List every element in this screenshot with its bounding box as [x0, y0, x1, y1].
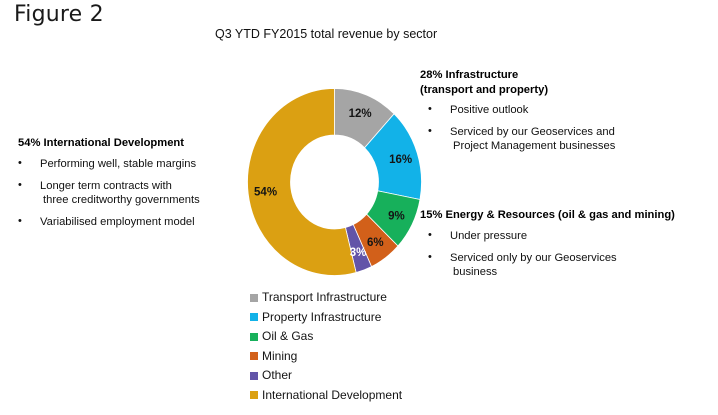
bullet-infrastructure-item-text-line2: Project Management businesses — [453, 139, 710, 153]
donut-slice-value-label: 3% — [350, 247, 367, 259]
legend-item[interactable]: Other — [250, 366, 480, 386]
legend-item[interactable]: Property Infrastructure — [250, 308, 480, 328]
bullet-infrastructure-item-text: Serviced by our Geoservices and — [450, 126, 615, 138]
bullet-international-item: •Performing well, stable margins — [10, 157, 250, 171]
callout-infrastructure-bullets: •Positive outlook•Serviced by our Geoser… — [420, 103, 710, 153]
legend-swatch-icon — [250, 313, 258, 321]
legend-swatch-icon — [250, 352, 258, 360]
bullet-energy-item-text-line2: business — [453, 265, 716, 279]
legend-item[interactable]: International Development — [250, 386, 480, 406]
legend-swatch-icon — [250, 333, 258, 341]
bullet-infrastructure-item: •Serviced by our Geoservices andProject … — [420, 125, 710, 153]
callout-infrastructure-heading: 28% Infrastructure (transport and proper… — [420, 68, 710, 97]
callout-energy-heading: 15% Energy & Resources (oil & gas and mi… — [420, 208, 716, 223]
bullet-international-item-text: Variabilised employment model — [40, 216, 195, 228]
bullet-dot-icon: • — [428, 102, 432, 116]
bullet-dot-icon: • — [428, 228, 432, 242]
donut-slice-value-label: 6% — [367, 237, 384, 249]
chart-title: Q3 YTD FY2015 total revenue by sector — [215, 27, 437, 41]
bullet-dot-icon: • — [18, 178, 22, 192]
bullet-dot-icon: • — [428, 250, 432, 264]
legend-swatch-icon — [250, 391, 258, 399]
bullet-international-item: •Variabilised employment model — [10, 215, 250, 229]
legend-item-label: Mining — [262, 350, 297, 363]
legend-item-label: Other — [262, 369, 292, 382]
bullet-energy-item-text: Serviced only by our Geoservices — [450, 252, 617, 264]
bullet-dot-icon: • — [18, 156, 22, 170]
bullet-dot-icon: • — [18, 214, 22, 228]
legend-item-label: Oil & Gas — [262, 330, 313, 343]
donut-chart-svg: 12%16%9%6%3%54% — [247, 88, 422, 276]
donut-slices — [248, 89, 422, 276]
legend-swatch-icon — [250, 294, 258, 302]
callout-energy-bullets: •Under pressure•Serviced only by our Geo… — [420, 229, 716, 279]
legend-swatch-icon — [250, 372, 258, 380]
donut-slice-value-label: 54% — [254, 186, 277, 198]
callout-energy-resources: 15% Energy & Resources (oil & gas and mi… — [420, 208, 716, 287]
legend-item[interactable]: Oil & Gas — [250, 327, 480, 347]
bullet-international-item-text: Longer term contracts with — [40, 180, 172, 192]
chart-legend: Transport InfrastructureProperty Infrast… — [250, 288, 480, 405]
callout-international-bullets: •Performing well, stable margins•Longer … — [10, 157, 250, 229]
legend-item[interactable]: Transport Infrastructure — [250, 288, 480, 308]
callout-infrastructure-heading-line2: (transport and property) — [420, 83, 710, 98]
legend-item-label: Property Infrastructure — [262, 311, 381, 324]
callout-infrastructure-heading-line1: 28% Infrastructure — [420, 69, 518, 81]
bullet-energy-item-text: Under pressure — [450, 230, 527, 242]
bullet-dot-icon: • — [428, 124, 432, 138]
donut-slice-value-label: 9% — [388, 211, 405, 223]
figure-label: Figure 2 — [14, 2, 104, 27]
bullet-international-item-text-line2: three creditworthy governments — [43, 193, 250, 207]
bullet-energy-item: •Serviced only by our Geoservicesbusines… — [420, 251, 716, 279]
callout-infrastructure: 28% Infrastructure (transport and proper… — [420, 68, 710, 161]
bullet-international-item: •Longer term contracts withthree creditw… — [10, 179, 250, 207]
bullet-energy-item: •Under pressure — [420, 229, 716, 243]
callout-international-heading: 54% International Development — [18, 136, 250, 151]
figure-canvas: Figure 2 Q3 YTD FY2015 total revenue by … — [0, 0, 718, 415]
bullet-infrastructure-item-text: Positive outlook — [450, 104, 528, 116]
donut-slice-value-label: 16% — [389, 154, 412, 166]
donut-slice-value-label: 12% — [349, 108, 372, 120]
legend-item-label: International Development — [262, 389, 402, 402]
donut-chart: 12%16%9%6%3%54% — [247, 88, 422, 276]
bullet-international-item-text: Performing well, stable margins — [40, 158, 196, 170]
legend-item[interactable]: Mining — [250, 347, 480, 367]
bullet-infrastructure-item: •Positive outlook — [420, 103, 710, 117]
legend-item-label: Transport Infrastructure — [262, 291, 387, 304]
callout-international-development: 54% International Development •Performin… — [10, 136, 250, 237]
